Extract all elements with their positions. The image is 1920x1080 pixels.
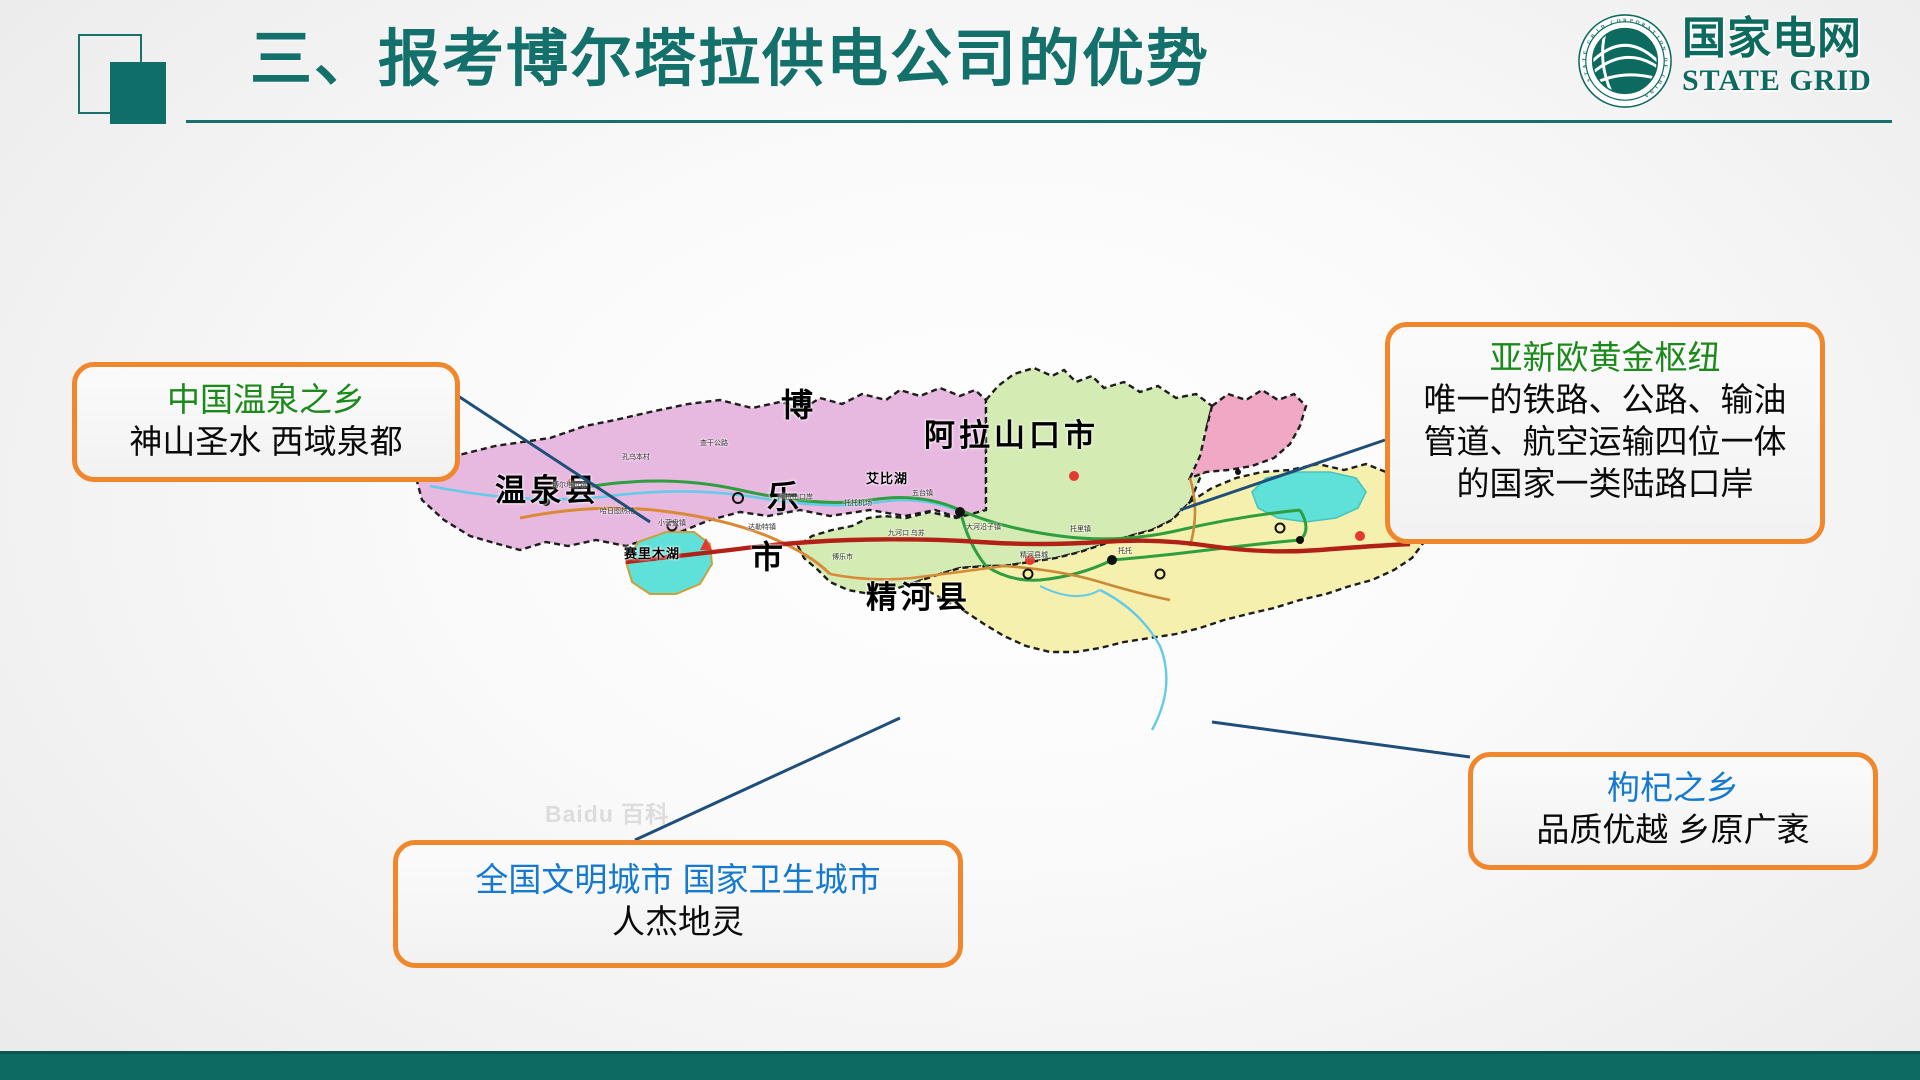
- map-label-alashankou: 阿拉山口市: [924, 410, 1099, 455]
- map-small-label: 小营盘镇: [658, 518, 686, 528]
- map-small-label: 九河口 乌苏: [888, 528, 925, 538]
- callout-eurasia-hub-line-2: 管道、航空运输四位一体: [1390, 421, 1820, 463]
- callout-hot-spring-body: 神山圣水 西域泉都: [77, 421, 455, 463]
- slide-footer-bar: [0, 1054, 1920, 1080]
- map-small-label: 达勒特镇: [748, 522, 776, 532]
- map-small-label: 托里镇: [1070, 524, 1091, 534]
- map-small-label: 博乐市: [832, 552, 853, 562]
- brand-name-cn: 国家电网: [1682, 14, 1904, 64]
- bortala-prefecture-map: 温泉县 博 乐 市 阿拉山口市 精河县 艾比湖 赛里木湖 孔乌本村 查干公路 博…: [400, 360, 1460, 830]
- callout-civilized-city-body: 人杰地灵: [398, 901, 958, 943]
- map-label-jinghe: 精河县: [866, 572, 971, 617]
- slide-header: 三、报考博尔塔拉供电公司的优势: [0, 0, 1920, 130]
- callout-hot-spring[interactable]: 中国温泉之乡 神山圣水 西域泉都: [72, 362, 460, 482]
- map-small-label: 孔乌本村: [622, 452, 650, 462]
- title-underline-rule: [186, 120, 1892, 123]
- callout-civilized-city[interactable]: 全国文明城市 国家卫生城市 人杰地灵: [393, 840, 963, 968]
- map-small-label: 查干公路: [700, 438, 728, 448]
- callout-wolfberry-body: 品质优越 乡原广袤: [1473, 809, 1873, 851]
- callout-wolfberry[interactable]: 枸杞之乡 品质优越 乡原广袤: [1468, 752, 1878, 870]
- callout-eurasia-hub[interactable]: 亚新欧黄金枢纽 唯一的铁路、公路、输油 管道、航空运输四位一体 的国家一类陆路口…: [1385, 322, 1825, 544]
- map-small-label: 五台镇: [912, 488, 933, 498]
- map-small-label: 托托机场: [844, 498, 872, 508]
- header-square-solid: [110, 62, 166, 124]
- state-grid-emblem-icon: S T A T E G R I D C O R P O R: [1576, 12, 1674, 110]
- map-small-label: 博尔塔拉镇: [552, 480, 587, 490]
- map-label-lake-sayram: 赛里木湖: [624, 543, 680, 562]
- callout-eurasia-hub-line-3: 的国家一类陆路口岸: [1390, 463, 1820, 505]
- state-grid-logo: S T A T E G R I D C O R P O R: [1576, 10, 1906, 110]
- map-small-label: 哈日图热格: [600, 506, 635, 516]
- callout-wolfberry-heading: 枸杞之乡: [1473, 767, 1873, 809]
- map-small-label: 托托: [1118, 546, 1132, 556]
- slide-canvas: 三、报考博尔塔拉供电公司的优势: [0, 0, 1920, 1080]
- map-label-bo: 博: [772, 388, 818, 430]
- callout-eurasia-hub-line-1: 唯一的铁路、公路、输油: [1390, 379, 1820, 421]
- callout-civilized-city-heading: 全国文明城市 国家卫生城市: [398, 859, 958, 901]
- state-grid-wordmark: 国家电网 STATE GRID: [1682, 14, 1904, 106]
- svg-text:R: R: [1623, 18, 1627, 24]
- baidu-baike-watermark: Baidu 百科: [545, 795, 669, 829]
- svg-text:O: O: [1662, 58, 1668, 62]
- brand-name-en: STATE GRID: [1682, 64, 1904, 98]
- callout-hot-spring-heading: 中国温泉之乡: [77, 379, 455, 421]
- map-small-label: 阿拉山口岸: [778, 492, 813, 502]
- page-title: 三、报考博尔塔拉供电公司的优势: [250, 18, 1210, 102]
- map-label-lake-ebinur: 艾比湖: [866, 468, 908, 487]
- map-label-shi: 市: [742, 540, 788, 582]
- callout-eurasia-hub-heading: 亚新欧黄金枢纽: [1390, 337, 1820, 379]
- map-small-label: 大河沿子镇: [966, 522, 1001, 532]
- map-small-label: 精河县城: [1020, 550, 1048, 560]
